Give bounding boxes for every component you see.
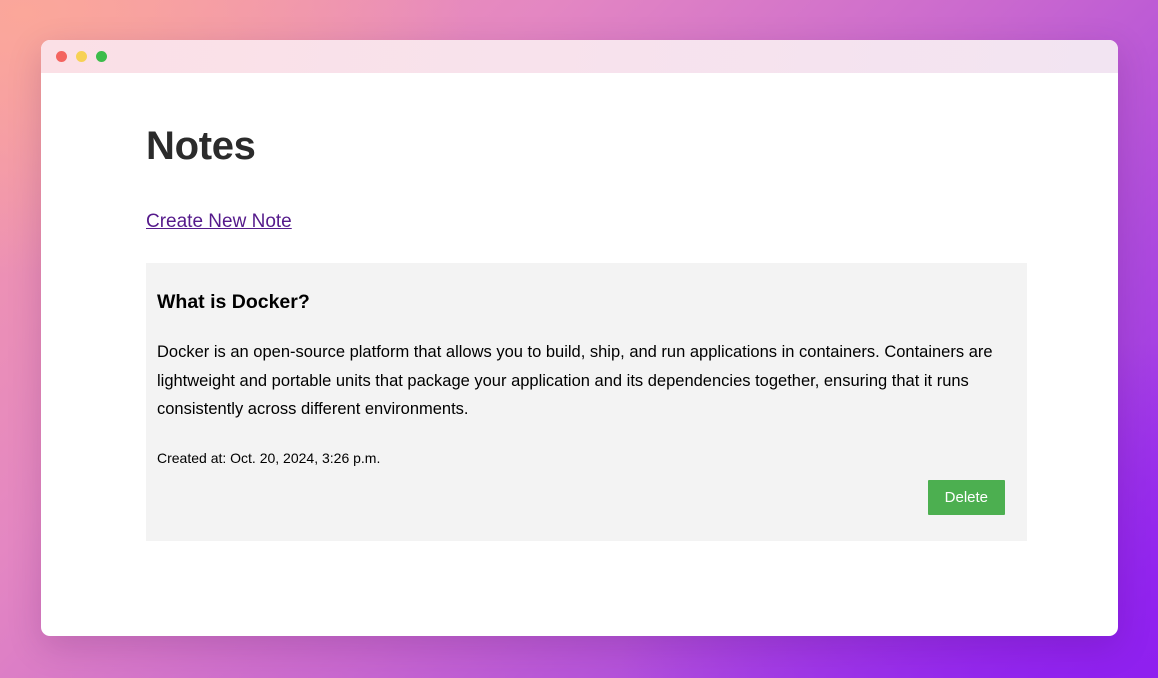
page-title: Notes [146,124,1066,168]
browser-window: Notes Create New Note What is Docker? Do… [41,40,1118,636]
maximize-icon[interactable] [96,51,107,62]
note-actions: Delete [157,480,1016,515]
note-created-at: Created at: Oct. 20, 2024, 3:26 p.m. [157,450,1016,466]
create-new-note-link[interactable]: Create New Note [146,211,292,233]
window-titlebar [41,40,1118,73]
note-title: What is Docker? [157,291,1016,314]
page-content: Notes Create New Note What is Docker? Do… [41,73,1118,541]
minimize-icon[interactable] [76,51,87,62]
close-icon[interactable] [56,51,67,62]
delete-button[interactable]: Delete [928,480,1005,515]
note-card: What is Docker? Docker is an open-source… [146,263,1027,541]
note-body: Docker is an open-source platform that a… [157,338,1005,424]
